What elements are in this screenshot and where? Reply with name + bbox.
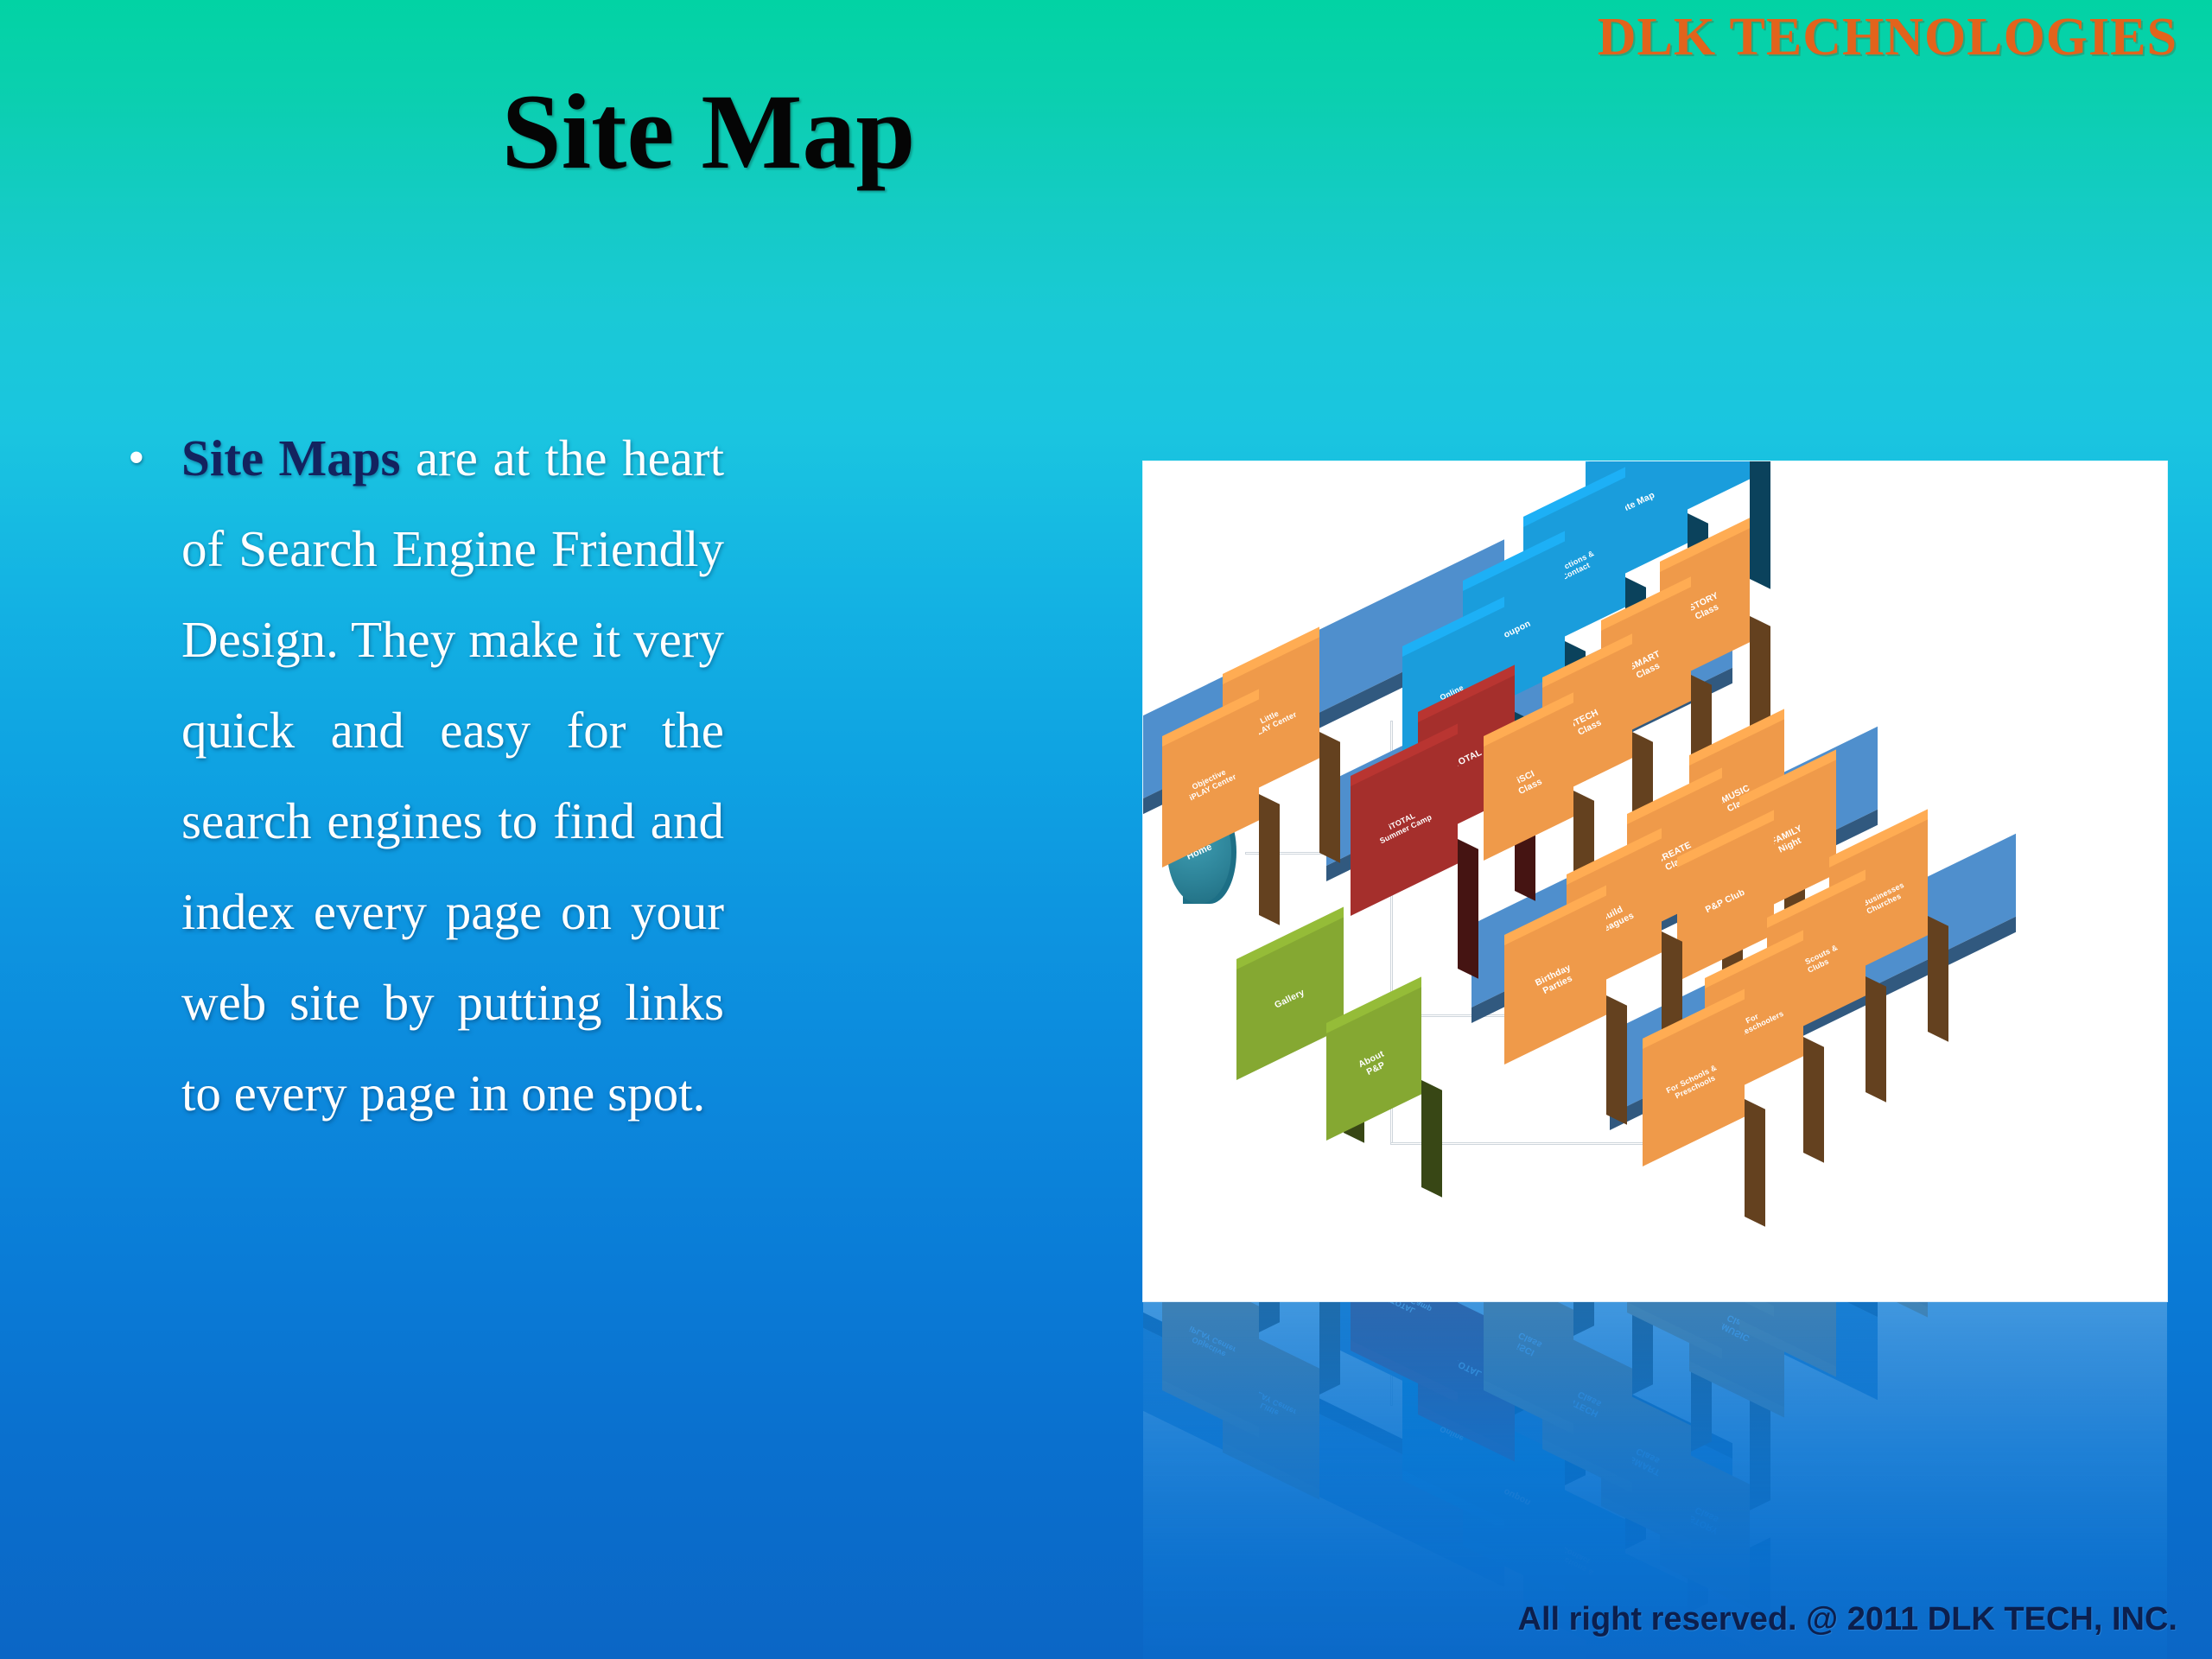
block-side-face (1745, 1099, 1765, 1227)
block-top-face (1660, 1553, 1750, 1609)
block-side-face (1504, 1302, 1525, 1420)
diagram-root-node-home: Home (1167, 1302, 1247, 1326)
block-side-face (1928, 916, 1948, 1042)
bullet-paragraph: Site Maps are at the heart of Search Eng… (181, 413, 724, 1139)
block-top-face (1418, 1402, 1515, 1462)
block-top-face (1463, 1534, 1565, 1596)
diagram-node-label: iTOTAL Summer Camp (1375, 804, 1433, 845)
diagram-node-label: iTECH Class (1570, 708, 1605, 739)
block-side-face (1750, 461, 1770, 589)
diagram-node-label: iSMART Class (1625, 1443, 1667, 1478)
diagram-node-block: Birthday Parties (1504, 945, 1629, 1099)
diagram-node-label: For Schools & Preschools (1665, 1063, 1722, 1103)
diagram-node-label: iSTORY Class (1685, 1503, 1725, 1536)
block-top-face (1677, 1302, 1774, 1317)
block-front-face: iTOTAL (1418, 1302, 1515, 1452)
diagram-node-label: iMUSIC Class (1718, 1311, 1757, 1344)
diagram-node-label: Online Registration (1428, 1411, 1478, 1448)
diagram-platform: PLAY Places (1143, 1302, 1504, 1406)
diagram-node-block: Coupon (1463, 1371, 1587, 1535)
block-side-face (1784, 1302, 1805, 1314)
diagram-node-label: Gallery (1274, 987, 1307, 1010)
presentation-slide: DLK TECHNOLOGIES Site Map • Site Maps ar… (0, 0, 2212, 1659)
diagram-node-block: iSMART Class (1601, 1347, 1713, 1496)
diagram-connector (1390, 1302, 1393, 1406)
bullet-marker-icon: • (128, 413, 181, 503)
block-top-face (1739, 1318, 1836, 1377)
block-top-face (1162, 1378, 1259, 1438)
block-top-face (1402, 1468, 1504, 1530)
diagram-node-label: iSCI Class (1513, 1330, 1545, 1359)
diagram-node-block: Directions & Contact (1523, 1435, 1648, 1599)
block-side-face (1259, 794, 1280, 925)
block-top-face (1351, 1338, 1458, 1402)
block-side-face (1606, 995, 1627, 1125)
block-side-face (1750, 1537, 1770, 1659)
block-top-face (1542, 1437, 1632, 1493)
block-front-face: Little iPLAY Center (1223, 1321, 1319, 1490)
bullet-rest-text: are at the heart of Search Engine Friend… (181, 429, 724, 1122)
diagram-node-label: About P&P (1357, 1048, 1391, 1078)
block-front-face: For Businesses & Churches (1829, 1302, 1928, 1307)
block-side-face (1458, 839, 1478, 979)
diagram-node-block: iSCI Class (1484, 1302, 1596, 1380)
diagram-node-label: P&P Club (1704, 887, 1747, 914)
diagram-node-label: Objective iPLAY Center (1184, 1324, 1237, 1362)
diagram-node-label: iSCI Class (1513, 766, 1545, 796)
block-front-face: iTECH Class (1542, 1325, 1632, 1483)
diagram-node-block: Objective iPLAY Center (1162, 1302, 1281, 1380)
body-content: • Site Maps are at the heart of Search E… (128, 413, 724, 1139)
block-side-face (1319, 1302, 1340, 1395)
block-top-face (1689, 1359, 1784, 1418)
block-front-face: Coupon (1463, 1406, 1565, 1586)
block-top-face (1223, 1440, 1319, 1500)
block-top-face (1627, 1302, 1722, 1359)
page-title: Site Map (0, 76, 1417, 188)
block-front-face: iCREATE Class (1627, 1302, 1722, 1349)
diagram-node-block: Online Registration (1402, 1306, 1527, 1470)
block-front-face: P&P Club (1677, 1302, 1774, 1306)
block-front-face: Objective iPLAY Center (1162, 1302, 1259, 1427)
diagram-node-label: Directions & Contact (1549, 1541, 1600, 1578)
diagram-node-block: iTOTAL Summer Camp (1351, 786, 1480, 950)
sitemap-diagram-image: PLAY PlacesEDU PlacesFUN PlacesCommunity… (1143, 461, 2167, 1301)
block-side-face (1515, 1302, 1535, 1357)
diagram-node-block: iTECH Class (1542, 1302, 1655, 1439)
block-front-face: iSMART Class (1601, 1382, 1691, 1540)
block-front-face: iMUSIC Class (1689, 1302, 1784, 1408)
block-front-face: iSCI Class (1484, 1302, 1573, 1424)
diagram-node-label: iTOTAL (1449, 1356, 1484, 1380)
block-front-face: iSTORY Class (1660, 1440, 1750, 1599)
block-side-face (1691, 1327, 1712, 1452)
diagram-node-block: iTOTAL (1418, 1302, 1537, 1404)
block-side-face (1259, 1302, 1280, 1332)
diagram-node-block: iSTORY Class (1660, 1406, 1772, 1554)
diagram-node-block: iMUSIC Class (1689, 1302, 1807, 1361)
bullet-lead-phrase: Site Maps (181, 429, 400, 486)
diagram-node-label: iTECH Class (1570, 1388, 1605, 1419)
diagram-node-label: Objective iPLAY Center (1184, 764, 1237, 802)
diagram-node-label: iFAMILY Night (1767, 1302, 1808, 1303)
block-front-face: Site Map (1586, 1534, 1688, 1659)
block-front-face: Online Registration (1402, 1340, 1504, 1520)
diagram-node-label: iTOTAL Summer Camp (1375, 1302, 1433, 1322)
copyright-footer: All right reserved. @ 2011 DLK TECH, INC… (1518, 1601, 2178, 1638)
block-side-face (1750, 1386, 1770, 1510)
diagram-node-label: Birthday Parties (1534, 963, 1577, 998)
diagram-node-label: Little iPLAY Center (1244, 1386, 1298, 1424)
block-side-face (1421, 1080, 1442, 1198)
diagram-node-block: iTOTAL Summer Camp (1351, 1302, 1480, 1340)
cylinder-body (1183, 1302, 1236, 1326)
block-side-face (1625, 1409, 1646, 1549)
cylinder-face (1167, 1302, 1231, 1326)
list-item: • Site Maps are at the heart of Search E… (128, 413, 724, 1139)
block-side-face (1632, 1302, 1653, 1395)
diagram-node-block: About P&P (1326, 1033, 1444, 1175)
block-top-face (1601, 1494, 1691, 1550)
block-side-face (1565, 1345, 1586, 1485)
block-side-face (1319, 732, 1340, 863)
block-side-face (1573, 1302, 1594, 1336)
block-top-face (1484, 1378, 1573, 1434)
diagram-root-label: Home (1149, 1302, 1249, 1335)
diagram-node-block: Little iPLAY Center (1223, 1302, 1342, 1442)
block-side-face (1866, 976, 1886, 1103)
block-front-face: iFAMILY Night (1739, 1302, 1836, 1367)
diagram-platform: EDU Places (1326, 1302, 1732, 1344)
diagram-node-block: Objective iPLAY Center (1162, 747, 1281, 902)
diagram-node-block: iFAMILY Night (1739, 1302, 1859, 1319)
company-brand-title: DLK TECHNOLOGIES (1598, 7, 2177, 68)
diagram-stage: PLAY PlacesEDU PlacesFUN PlacesCommunity… (1143, 461, 2167, 1301)
diagram-node-block: For Schools & Preschools (1643, 1049, 1767, 1201)
diagram-node-label: Coupon (1496, 1483, 1532, 1508)
block-side-face (1688, 1473, 1708, 1613)
block-top-face (1829, 1302, 1928, 1318)
block-front-face: iTOTAL Summer Camp (1351, 1302, 1458, 1392)
block-side-face (1803, 1037, 1824, 1163)
diagram-platform-label: Community Services (1883, 1199, 2005, 1216)
